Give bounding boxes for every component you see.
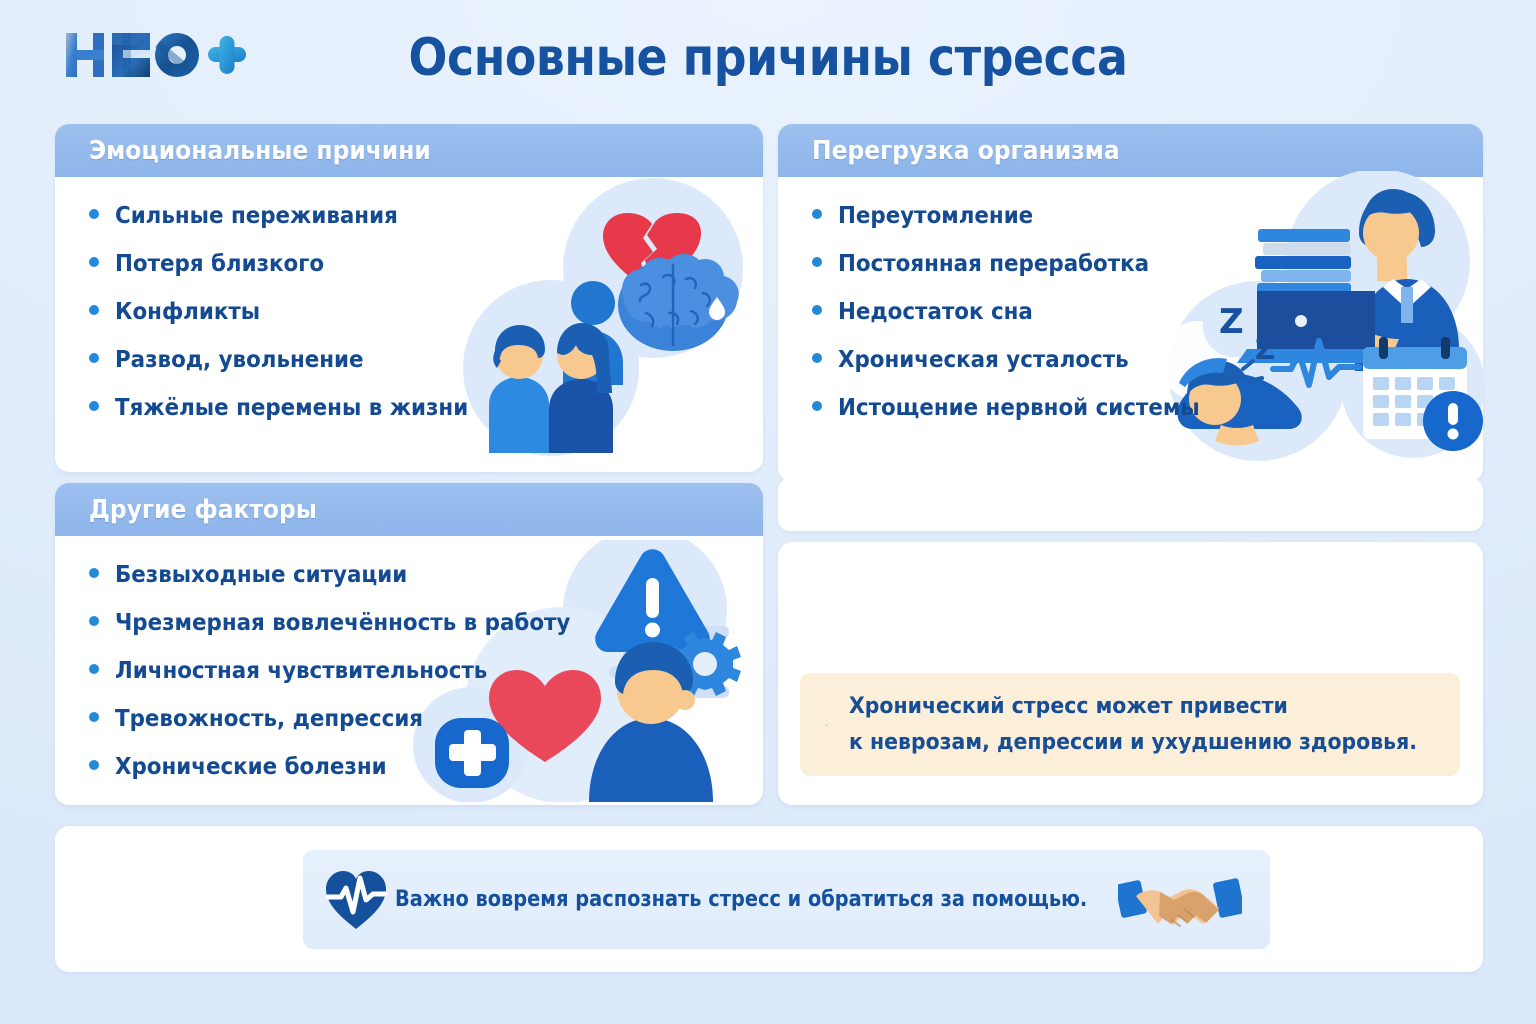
panel-warning: Хронический стресс может привести к невр… <box>778 542 1483 805</box>
overload-list: Переутомление Постоянная переработка Нед… <box>812 203 1463 421</box>
list-item-label: Развод, увольнение <box>115 347 364 373</box>
list-item: Тяжёлые перемены в жизни <box>89 395 743 421</box>
bullet-dot-icon <box>89 568 99 578</box>
footer-text: Важно вовремя распознать стресс и обрати… <box>395 887 1087 912</box>
list-item-label: Переутомление <box>838 203 1033 229</box>
card-body-overload: Перегрузка организма <box>778 124 1483 482</box>
emotional-list: Сильные переживания Потеря близкого Конф… <box>89 203 743 421</box>
list-item-label: Тревожность, депрессия <box>115 706 423 732</box>
other-factors-list: Безвыходные ситуации Чрезмерная вовлечён… <box>89 562 743 780</box>
list-item: Тревожность, депрессия <box>89 706 743 732</box>
warning-line-2: к неврозам, депрессии и ухудшению здоров… <box>849 725 1417 761</box>
handshake-icon <box>1118 868 1242 932</box>
list-item: Истощение нервной системы <box>812 395 1463 421</box>
list-item: Потеря близкого <box>89 251 743 277</box>
card-emotional-title: Эмоциональные причини <box>89 136 431 166</box>
list-item: Сильные переживания <box>89 203 743 229</box>
bullet-dot-icon <box>812 401 822 411</box>
list-item-label: Чрезмерная вовлечённость в работу <box>115 610 570 636</box>
bullet-dot-icon <box>812 353 822 363</box>
warning-callout: Хронический стресс может привести к невр… <box>800 673 1460 776</box>
list-item: Чрезмерная вовлечённость в работу <box>89 610 743 636</box>
footer-banner: Важно вовремя распознать стресс и обрати… <box>303 850 1270 949</box>
list-item-label: Хроническая усталость <box>838 347 1129 373</box>
list-item-label: Личностная чувствительность <box>115 658 487 684</box>
bullet-dot-icon <box>89 401 99 411</box>
bullet-dot-icon <box>89 353 99 363</box>
list-item-label: Хронические болезни <box>115 754 387 780</box>
page-title: Основные причины стресса <box>92 28 1444 88</box>
card-overload-body: Z Z <box>778 177 1483 482</box>
bullet-dot-icon <box>89 616 99 626</box>
bullet-dot-icon <box>89 712 99 722</box>
list-item-label: Недостаток сна <box>838 299 1033 325</box>
bullet-dot-icon <box>89 257 99 267</box>
list-item-label: Потеря близкого <box>115 251 324 277</box>
list-item: Переутомление <box>812 203 1463 229</box>
bullet-dot-icon <box>89 760 99 770</box>
card-other-body: Безвыходные ситуации Чрезмерная вовлечён… <box>55 536 763 805</box>
infographic-page: Основные причины стресса Эмоциональные п… <box>0 0 1536 1024</box>
card-emotional-body: Сильные переживания Потеря близкого Конф… <box>55 177 763 472</box>
list-item: Развод, увольнение <box>89 347 743 373</box>
bullet-dot-icon <box>812 209 822 219</box>
list-item: Конфликты <box>89 299 743 325</box>
card-emotional-header: Эмоциональные причини <box>55 124 763 177</box>
card-other-header: Другие факторы <box>55 483 763 536</box>
list-item-label: Конфликты <box>115 299 260 325</box>
card-emotional-causes: Эмоциональные причини <box>55 124 763 472</box>
card-overload-title: Перегрузка организма <box>812 136 1120 166</box>
bullet-dot-icon <box>89 209 99 219</box>
bullet-dot-icon <box>89 664 99 674</box>
bullet-dot-icon <box>89 305 99 315</box>
bullet-dot-icon <box>812 257 822 267</box>
list-item-label: Сильные переживания <box>115 203 398 229</box>
list-item-label: Истощение нервной системы <box>838 395 1200 421</box>
warning-triangle-icon <box>826 694 827 756</box>
warning-line-1: Хронический стресс может привести <box>849 689 1417 725</box>
list-item: Постоянная переработка <box>812 251 1463 277</box>
list-item: Безвыходные ситуации <box>89 562 743 588</box>
heart-pulse-icon <box>323 868 389 932</box>
list-item-label: Тяжёлые перемены в жизни <box>115 395 468 421</box>
bullet-dot-icon <box>812 305 822 315</box>
list-item-label: Безвыходные ситуации <box>115 562 407 588</box>
card-overload-header: Перегрузка организма <box>778 124 1483 177</box>
list-item: Хронические болезни <box>89 754 743 780</box>
card-other-factors: Другие факторы <box>55 483 763 805</box>
panel-blank-spacer <box>778 478 1483 531</box>
list-item: Личностная чувствительность <box>89 658 743 684</box>
card-other-title: Другие факторы <box>89 495 317 525</box>
list-item-label: Постоянная переработка <box>838 251 1149 277</box>
warning-text: Хронический стресс может привести к невр… <box>849 689 1417 761</box>
list-item: Недостаток сна <box>812 299 1463 325</box>
list-item: Хроническая усталость <box>812 347 1463 373</box>
